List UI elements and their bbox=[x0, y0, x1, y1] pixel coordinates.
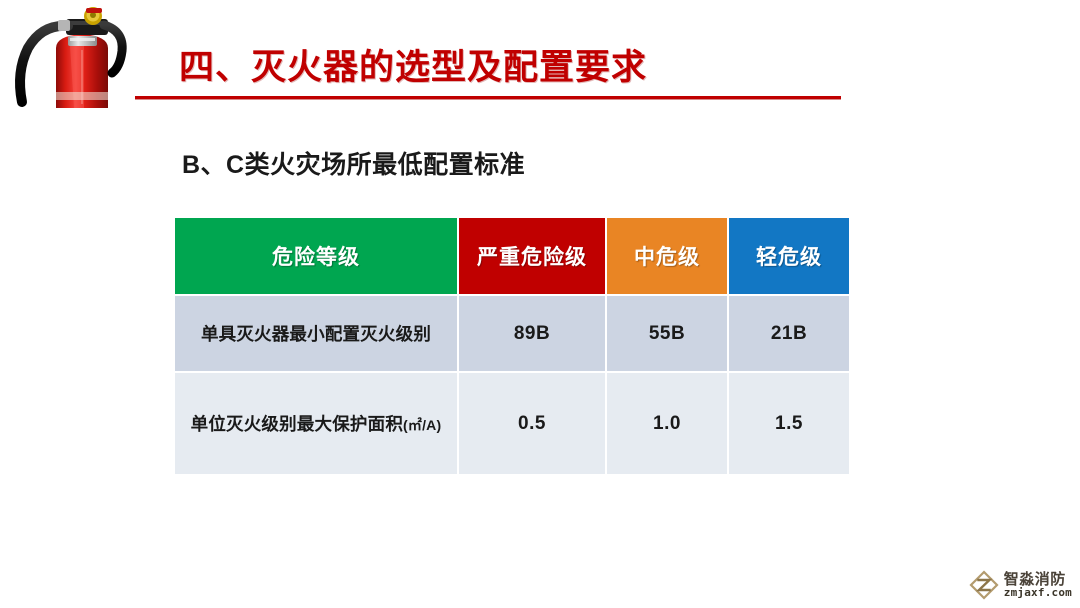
slide-title-block: 四、灭火器的选型及配置要求 bbox=[135, 44, 845, 106]
table-header: 危险等级 严重危险级 中危级 轻危级 bbox=[174, 217, 850, 295]
table-body: 单具灭火器最小配置灭火级别 89B 55B 21B 单位灭火级别最大保护面积(㎡… bbox=[174, 295, 850, 475]
cell-medium-rating: 55B bbox=[606, 295, 728, 372]
table-row: 单位灭火级别最大保护面积(㎡/A) 0.5 1.0 1.5 bbox=[174, 372, 850, 475]
table-header-row: 危险等级 严重危险级 中危级 轻危级 bbox=[174, 217, 850, 295]
slide-canvas: 四、灭火器的选型及配置要求 B、C类火灾场所最低配置标准 危险等级 严重危险级 … bbox=[0, 0, 1080, 608]
table-header-severe-hazard: 严重危险级 bbox=[458, 217, 606, 295]
watermark-brand-cn: 智淼消防 bbox=[1004, 572, 1072, 587]
row-label-max-protection-area: 单位灭火级别最大保护面积(㎡/A) bbox=[174, 372, 458, 475]
watermark-logo: 智淼消防 zmjaxf.com bbox=[969, 570, 1072, 600]
watermark-url: zmjaxf.com bbox=[1004, 587, 1072, 598]
table-header-medium-hazard: 中危级 bbox=[606, 217, 728, 295]
table-header-light-hazard: 轻危级 bbox=[728, 217, 850, 295]
watermark-text: 智淼消防 zmjaxf.com bbox=[1004, 572, 1072, 599]
row-label-text: 单位灭火级别最大保护面积 bbox=[191, 414, 403, 434]
row-label-min-extinguishing-rating: 单具灭火器最小配置灭火级别 bbox=[174, 295, 458, 372]
configuration-table: 危险等级 严重危险级 中危级 轻危级 单具灭火器最小配置灭火级别 89B 55B… bbox=[173, 216, 851, 476]
page-title: 四、灭火器的选型及配置要求 bbox=[179, 44, 647, 92]
title-underline-rule-secondary bbox=[135, 99, 841, 100]
cell-light-area: 1.5 bbox=[728, 372, 850, 475]
table-header-hazard-grade: 危险等级 bbox=[174, 217, 458, 295]
configuration-table-wrapper: 危险等级 严重危险级 中危级 轻危级 单具灭火器最小配置灭火级别 89B 55B… bbox=[173, 216, 849, 464]
row-label-unit: (㎡/A) bbox=[403, 417, 441, 433]
cell-severe-rating: 89B bbox=[458, 295, 606, 372]
cell-medium-area: 1.0 bbox=[606, 372, 728, 475]
section-subtitle: B、C类火灾场所最低配置标准 bbox=[182, 145, 525, 181]
cell-light-rating: 21B bbox=[728, 295, 850, 372]
row-label-text: 单具灭火器最小配置灭火级别 bbox=[201, 324, 431, 344]
cell-severe-area: 0.5 bbox=[458, 372, 606, 475]
diamond-z-logo-icon bbox=[969, 570, 999, 600]
table-row: 单具灭火器最小配置灭火级别 89B 55B 21B bbox=[174, 295, 850, 372]
